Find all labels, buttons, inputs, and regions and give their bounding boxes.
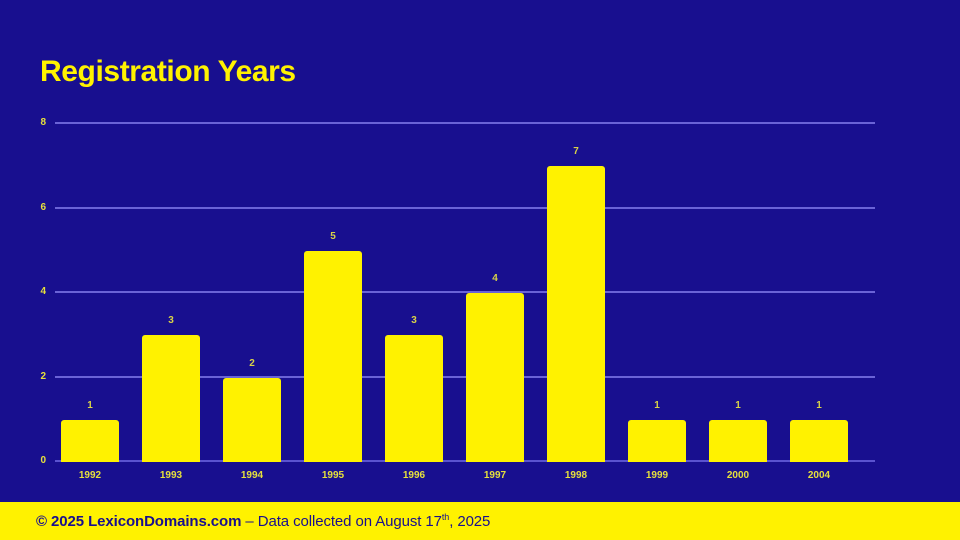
bar-group: 12004 [790,124,848,462]
bar-group: 12000 [709,124,767,462]
bar-value-label: 5 [304,232,362,242]
bar-1992[interactable] [61,420,119,462]
bar-group: 51995 [304,124,362,462]
bar-value-label: 1 [790,401,848,411]
bar-value-label: 2 [223,359,281,369]
bar-value-label: 7 [547,147,605,157]
bar-group: 71998 [547,124,605,462]
bar-group: 31993 [142,124,200,462]
x-axis-tick-label: 2004 [790,471,848,481]
bar-1996[interactable] [385,335,443,462]
page-title: Registration Years [40,55,296,89]
x-axis-tick-label: 1994 [223,471,281,481]
bar-1993[interactable] [142,335,200,462]
y-axis-tick-label: 4 [40,287,46,297]
bar-2000[interactable] [709,420,767,462]
bar-group: 41997 [466,124,524,462]
footer-credit: © 2025 LexiconDomains.com – Data collect… [36,512,490,530]
bar-group: 21994 [223,124,281,462]
bar-value-label: 1 [628,401,686,411]
x-axis-tick-label: 2000 [709,471,767,481]
bar-group: 11999 [628,124,686,462]
x-axis-tick-label: 1992 [61,471,119,481]
footer-bar: © 2025 LexiconDomains.com – Data collect… [0,502,960,540]
y-axis-tick-label: 0 [40,456,46,466]
x-axis-tick-label: 1997 [466,471,524,481]
x-axis-tick-label: 1996 [385,471,443,481]
bar-value-label: 3 [142,316,200,326]
footer-collected-prefix: Data collected on August [258,513,422,530]
x-axis-tick-label: 1998 [547,471,605,481]
x-axis-tick-label: 1999 [628,471,686,481]
bar-2004[interactable] [790,420,848,462]
chart-plot-area: 02468 1199231993219945199531996419977199… [55,124,875,462]
y-axis-tick-label: 8 [40,118,46,128]
bar-1994[interactable] [223,378,281,463]
y-axis-tick-label: 2 [40,372,46,382]
slide: Registration Years 02468 119923199321994… [0,0,960,540]
bar-value-label: 3 [385,316,443,326]
x-axis-tick-label: 1995 [304,471,362,481]
x-axis-tick-label: 1993 [142,471,200,481]
footer-day: 17 [425,513,442,530]
bar-value-label: 1 [61,401,119,411]
bar-1998[interactable] [547,166,605,462]
footer-year: 2025 [51,513,84,530]
bar-1999[interactable] [628,420,686,462]
bar-group: 31996 [385,124,443,462]
bar-value-label: 4 [466,274,524,284]
bar-1995[interactable] [304,251,362,462]
footer-separator: – [245,513,253,530]
copyright-icon: © [36,513,47,530]
bar-1997[interactable] [466,293,524,462]
chart-bars: 1199231993219945199531996419977199811999… [55,124,875,462]
bar-value-label: 1 [709,401,767,411]
footer-collected-suffix: , 2025 [449,513,490,530]
bar-group: 11992 [61,124,119,462]
footer-brand: LexiconDomains.com [88,513,241,530]
y-axis-tick-label: 6 [40,203,46,213]
